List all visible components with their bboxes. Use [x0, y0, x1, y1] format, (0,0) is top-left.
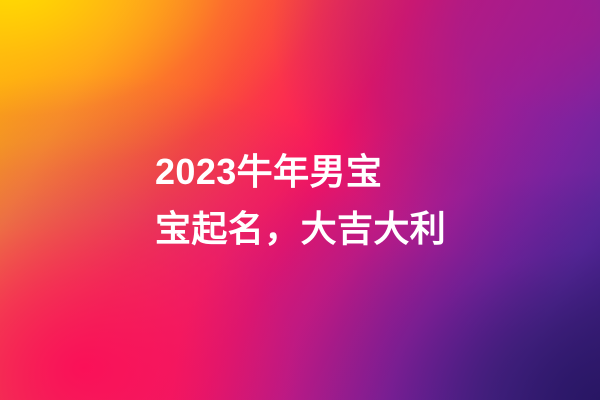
- headline-line-2: 宝起名，大吉大利: [155, 200, 475, 257]
- banner-card: 2023牛年男宝 宝起名，大吉大利: [0, 0, 600, 400]
- banner-headline: 2023牛年男宝 宝起名，大吉大利: [155, 0, 475, 400]
- headline-line-1: 2023牛年男宝: [155, 143, 475, 200]
